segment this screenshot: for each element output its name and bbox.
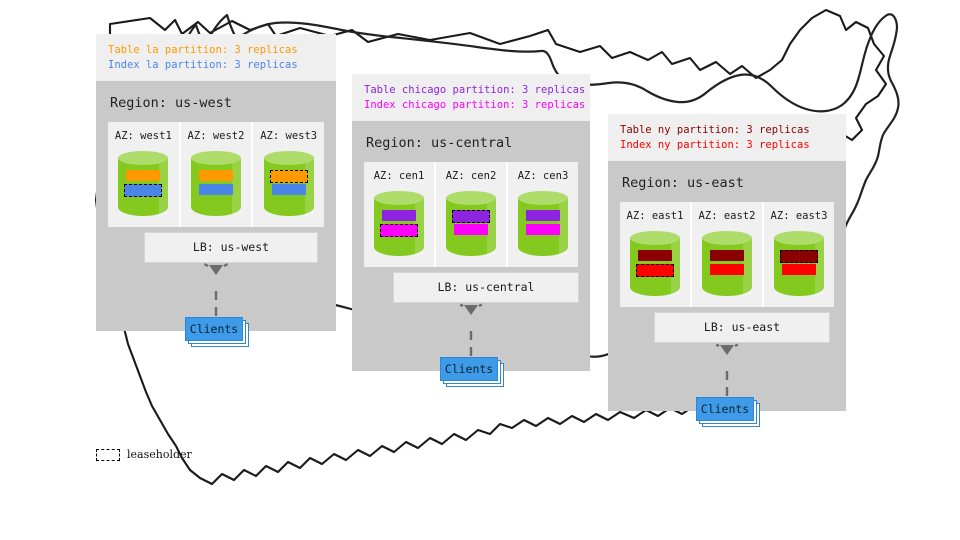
az-strip-us-central: AZ: cen1 AZ: cen2: [364, 162, 578, 267]
region-header-us-east: Table ny partition: 3 replicas Index ny …: [608, 114, 846, 161]
index-replica: [199, 184, 233, 195]
az-label: AZ: cen2: [436, 170, 506, 182]
node-cylinder[interactable]: [118, 151, 168, 223]
cylinder-top: [446, 191, 496, 205]
cylinder-top: [702, 231, 752, 245]
diagram-canvas: Table la partition: 3 replicas Index la …: [0, 0, 960, 540]
replica-bars: [774, 250, 824, 278]
az-cen2[interactable]: AZ: cen2: [436, 162, 508, 267]
node-cylinder[interactable]: [191, 151, 241, 223]
index-replica-leaseholder: [124, 184, 162, 197]
clients-label[interactable]: Clients: [696, 397, 754, 421]
az-strip-us-west: AZ: west1 AZ: west2: [108, 122, 324, 227]
arrowhead-lb: [720, 345, 734, 355]
az-west1[interactable]: AZ: west1: [108, 122, 181, 227]
leaseholder-swatch-icon: [96, 449, 120, 461]
clients-stack-us-east[interactable]: Clients: [696, 397, 758, 424]
node-cylinder[interactable]: [702, 231, 752, 303]
az-west3[interactable]: AZ: west3: [253, 122, 324, 227]
region-panel-us-central: Table chicago partition: 3 replicas Inde…: [352, 74, 590, 371]
table-replica-leaseholder: [452, 210, 490, 223]
index-replica-leaseholder: [636, 264, 674, 277]
node-cylinder[interactable]: [518, 191, 568, 263]
replica-bars: [191, 170, 241, 198]
region-header-us-west: Table la partition: 3 replicas Index la …: [96, 34, 336, 81]
az-cen1[interactable]: AZ: cen1: [364, 162, 436, 267]
region-header-us-central: Table chicago partition: 3 replicas Inde…: [352, 74, 590, 121]
table-replica: [710, 250, 744, 261]
cylinder-top: [374, 191, 424, 205]
arrowhead-lb: [464, 305, 478, 315]
cylinder-top: [518, 191, 568, 205]
region-panel-us-west: Table la partition: 3 replicas Index la …: [96, 34, 336, 331]
table-replica-line: Table chicago partition: 3 replicas: [364, 83, 578, 98]
cylinder-top: [264, 151, 314, 165]
index-replica: [454, 224, 488, 235]
replica-bars: [518, 210, 568, 238]
region-title: Region: us-central: [352, 121, 590, 162]
index-replica: [272, 184, 306, 195]
table-replica-line: Table la partition: 3 replicas: [108, 43, 324, 58]
az-east3[interactable]: AZ: east3: [764, 202, 834, 307]
index-replica-leaseholder: [380, 224, 418, 237]
clients-stack-us-central[interactable]: Clients: [440, 357, 502, 384]
index-replica-line: Index ny partition: 3 replicas: [620, 138, 834, 153]
az-label: AZ: cen3: [508, 170, 578, 182]
cylinder-top: [630, 231, 680, 245]
clients-label[interactable]: Clients: [440, 357, 498, 381]
cylinder-top: [191, 151, 241, 165]
replica-bars: [374, 210, 424, 238]
table-replica: [638, 250, 672, 261]
replica-bars: [630, 250, 680, 278]
replica-bars: [264, 170, 314, 198]
legend: leaseholder: [96, 448, 192, 461]
az-label: AZ: cen1: [364, 170, 434, 182]
table-replica: [126, 170, 160, 181]
node-cylinder[interactable]: [774, 231, 824, 303]
az-strip-us-east: AZ: east1 AZ: east2: [620, 202, 834, 307]
region-panel-us-east: Table ny partition: 3 replicas Index ny …: [608, 114, 846, 411]
legend-label: leaseholder: [127, 448, 192, 461]
clients-stack-us-west[interactable]: Clients: [185, 317, 247, 344]
node-cylinder[interactable]: [264, 151, 314, 223]
az-label: AZ: east3: [764, 210, 834, 222]
az-label: AZ: east1: [620, 210, 690, 222]
table-replica: [199, 170, 233, 181]
az-label: AZ: west2: [181, 130, 252, 142]
node-cylinder[interactable]: [630, 231, 680, 303]
clients-label[interactable]: Clients: [185, 317, 243, 341]
index-replica-line: Index chicago partition: 3 replicas: [364, 98, 578, 113]
replica-bars: [702, 250, 752, 278]
table-replica: [382, 210, 416, 221]
node-cylinder[interactable]: [374, 191, 424, 263]
az-west2[interactable]: AZ: west2: [181, 122, 254, 227]
index-replica: [526, 224, 560, 235]
table-replica: [526, 210, 560, 221]
region-title: Region: us-west: [96, 81, 336, 122]
replica-bars: [446, 210, 496, 238]
az-label: AZ: west3: [253, 130, 324, 142]
table-replica-leaseholder: [270, 170, 308, 183]
az-east1[interactable]: AZ: east1: [620, 202, 692, 307]
index-replica: [782, 264, 816, 275]
cylinder-top: [118, 151, 168, 165]
node-cylinder[interactable]: [446, 191, 496, 263]
index-replica-line: Index la partition: 3 replicas: [108, 58, 324, 73]
load-balancer-us-central[interactable]: LB: us-central: [393, 272, 579, 303]
arrowhead-lb: [209, 265, 223, 275]
az-east2[interactable]: AZ: east2: [692, 202, 764, 307]
load-balancer-us-east[interactable]: LB: us-east: [654, 312, 830, 343]
table-replica-leaseholder: [780, 250, 818, 263]
az-cen3[interactable]: AZ: cen3: [508, 162, 578, 267]
az-label: AZ: east2: [692, 210, 762, 222]
table-replica-line: Table ny partition: 3 replicas: [620, 123, 834, 138]
cylinder-top: [774, 231, 824, 245]
load-balancer-us-west[interactable]: LB: us-west: [144, 232, 318, 263]
region-title: Region: us-east: [608, 161, 846, 202]
index-replica: [710, 264, 744, 275]
az-label: AZ: west1: [108, 130, 179, 142]
replica-bars: [118, 170, 168, 198]
